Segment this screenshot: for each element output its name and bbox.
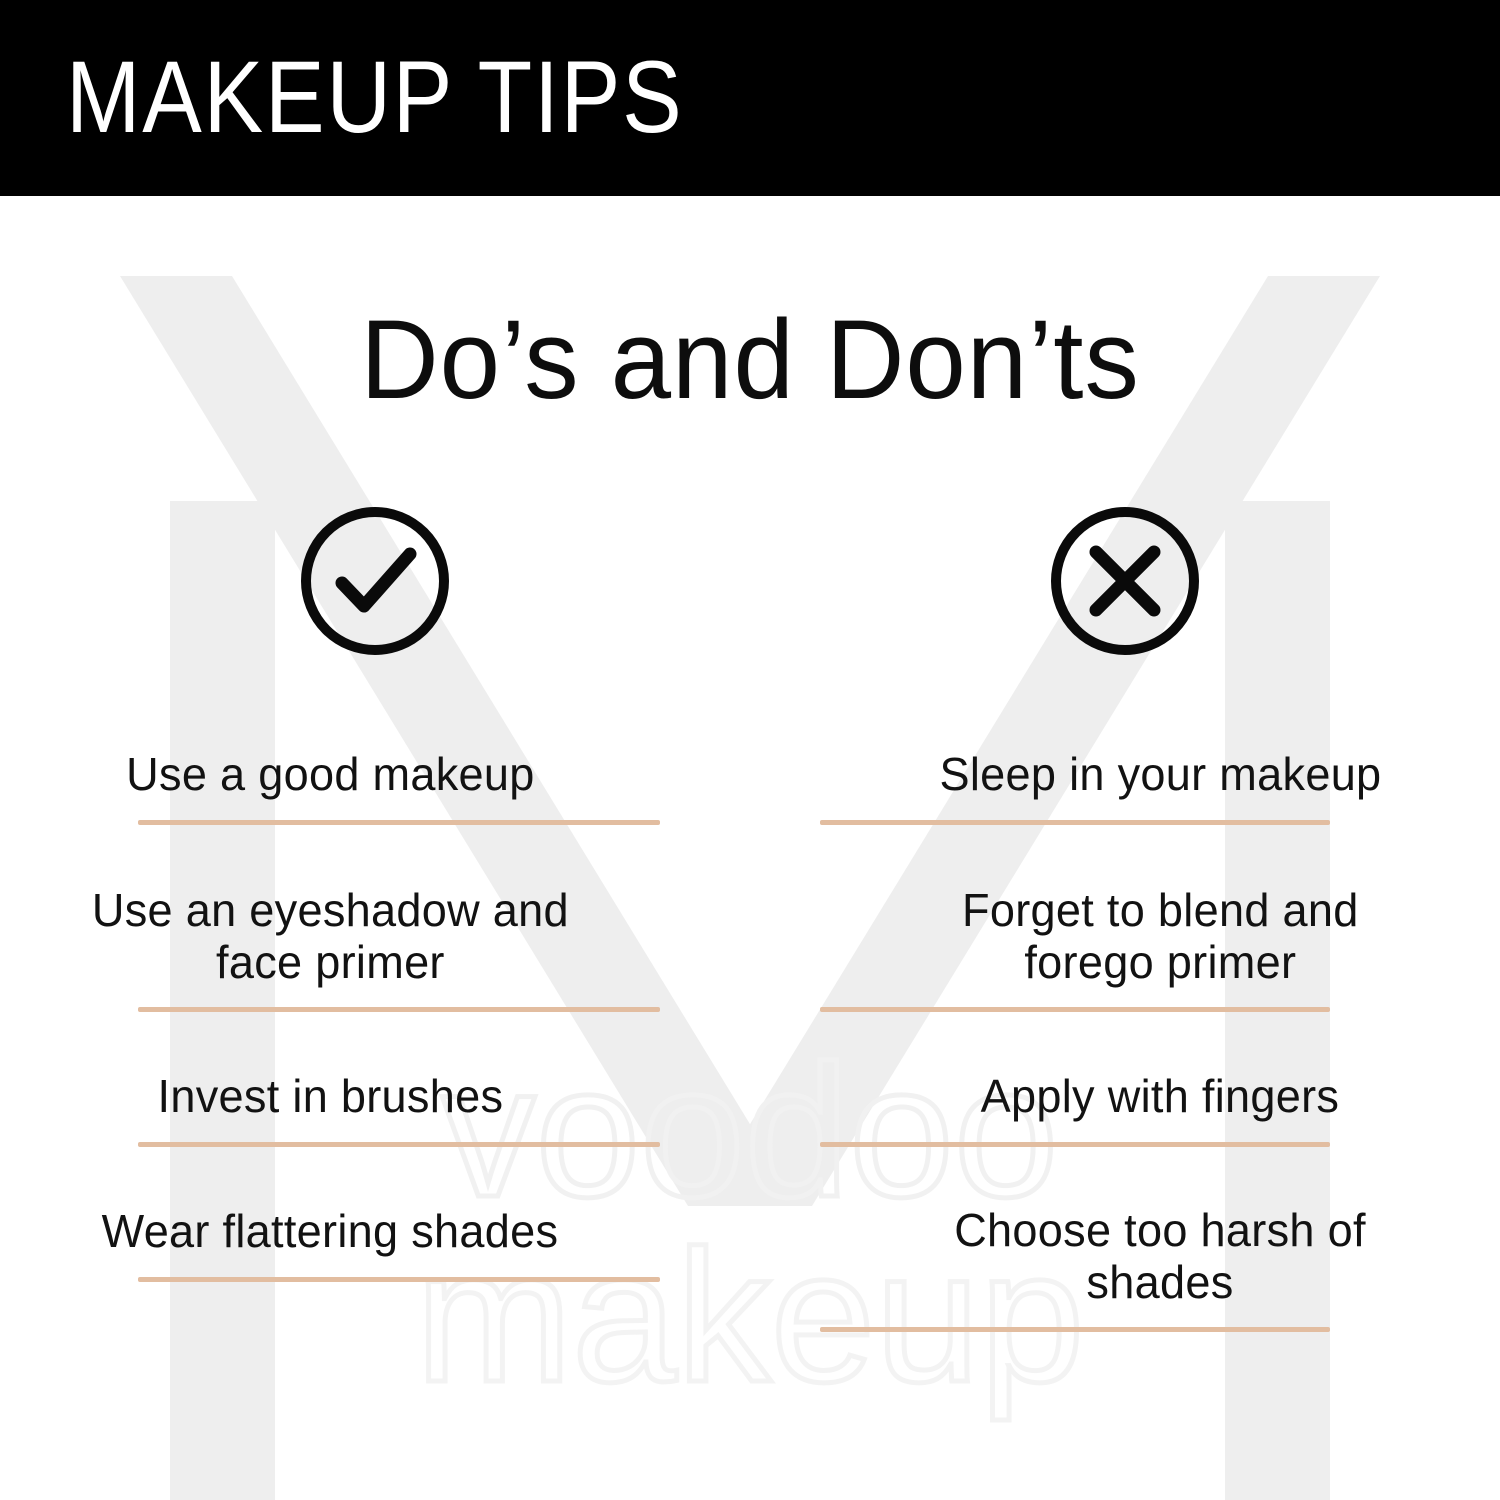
list-item: Invest in brushes <box>0 1052 750 1142</box>
row-spacer <box>0 1147 750 1187</box>
list-divider <box>138 1277 660 1282</box>
header-band: MAKEUP TIPS <box>0 0 1500 196</box>
check-circle-icon <box>295 501 455 661</box>
list-item: Sleep in your makeup <box>750 730 1500 820</box>
list-item: Choose too harsh of shades <box>750 1187 1500 1327</box>
columns-container: Use a good makeup Use an eyeshadow and f… <box>0 496 1500 1332</box>
list-item-label: Wear flattering shades <box>102 1206 559 1258</box>
content-area: Do’s and Don’ts Use a good makeup Use an… <box>0 196 1500 1500</box>
dont-column-icon-area <box>750 496 1500 666</box>
do-column: Use a good makeup Use an eyeshadow and f… <box>0 496 750 1332</box>
row-spacer <box>750 1147 1500 1187</box>
list-divider <box>820 1327 1330 1332</box>
do-list: Use a good makeup Use an eyeshadow and f… <box>0 730 750 1282</box>
list-item-label: Use a good makeup <box>126 749 534 801</box>
list-item: Wear flattering shades <box>0 1187 750 1277</box>
dont-column: Sleep in your makeup Forget to blend and… <box>750 496 1500 1332</box>
list-item-label: Use an eyeshadow and face primer <box>91 885 568 989</box>
dont-list: Sleep in your makeup Forget to blend and… <box>750 730 1500 1332</box>
row-spacer <box>0 825 750 867</box>
list-item-label: Sleep in your makeup <box>939 749 1381 801</box>
row-spacer <box>750 825 1500 867</box>
row-spacer <box>750 1012 1500 1052</box>
list-item-label: Invest in brushes <box>157 1071 503 1123</box>
list-item-label: Forget to blend and forego primer <box>962 885 1359 989</box>
row-spacer <box>0 1012 750 1052</box>
list-item-label: Choose too harsh of shades <box>954 1205 1366 1309</box>
page-title: Do’s and Don’ts <box>23 304 1478 416</box>
list-item: Apply with fingers <box>750 1052 1500 1142</box>
header-title: MAKEUP TIPS <box>66 47 684 149</box>
do-column-icon-area <box>0 496 750 666</box>
list-item-label: Apply with fingers <box>981 1071 1340 1123</box>
x-circle-icon <box>1045 501 1205 661</box>
list-item: Use a good makeup <box>0 730 750 820</box>
list-item: Use an eyeshadow and face primer <box>0 867 750 1007</box>
list-item: Forget to blend and forego primer <box>750 867 1500 1007</box>
